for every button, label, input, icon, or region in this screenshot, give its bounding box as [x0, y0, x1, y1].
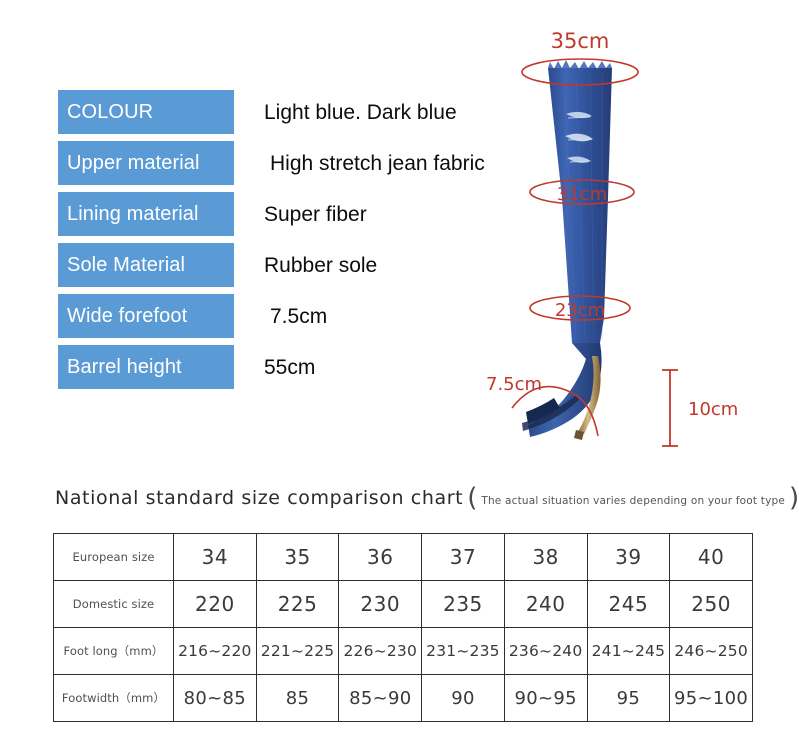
spec-label-lining-material: Lining material: [58, 192, 234, 236]
size-chart-heading: National standard size comparison chart …: [55, 487, 799, 509]
size-chart-note: The actual situation varies depending on…: [481, 495, 785, 507]
spec-label-barrel-height: Barrel height: [58, 345, 234, 389]
cell-foot-width-2: 85~90: [339, 675, 422, 722]
cell-european-size-0: 34: [174, 534, 257, 581]
table-row-european-size: European size 34 35 36 37 38 39 40: [54, 534, 753, 581]
paren-close: ): [789, 491, 799, 507]
cell-foot-long-1: 221~225: [256, 628, 339, 675]
cell-foot-width-6: 95~100: [670, 675, 753, 722]
cell-domestic-size-6: 250: [670, 581, 753, 628]
boot-product-illustration: 35cm 31cm 23cm 7.5cm 10cm: [480, 18, 799, 478]
spec-label-colour: COLOUR: [58, 90, 234, 134]
spec-label-sole-material: Sole Material: [58, 243, 234, 287]
cell-domestic-size-3: 235: [422, 581, 505, 628]
size-chart-title: National standard size comparison chart: [55, 487, 463, 509]
cell-foot-long-5: 241~245: [587, 628, 670, 675]
spec-label-upper-material: Upper material: [58, 141, 234, 185]
cell-foot-width-1: 85: [256, 675, 339, 722]
cell-domestic-size-0: 220: [174, 581, 257, 628]
specification-list: COLOUR Light blue. Dark blue Upper mater…: [58, 90, 528, 396]
cell-foot-long-0: 216~220: [174, 628, 257, 675]
size-comparison-table: European size 34 35 36 37 38 39 40 Domes…: [53, 533, 753, 722]
label-7-5cm: 7.5cm: [486, 374, 542, 395]
spec-row-sole-material: Sole Material Rubber sole: [58, 243, 528, 287]
cell-european-size-1: 35: [256, 534, 339, 581]
cell-european-size-6: 40: [670, 534, 753, 581]
cell-domestic-size-2: 230: [339, 581, 422, 628]
spec-row-upper-material: Upper material High stretch jean fabric: [58, 141, 528, 185]
row-label-domestic-size: Domestic size: [54, 581, 174, 628]
cell-foot-width-5: 95: [587, 675, 670, 722]
cell-european-size-4: 38: [504, 534, 587, 581]
spec-label-wide-forefoot: Wide forefoot: [58, 294, 234, 338]
spec-row-barrel-height: Barrel height 55cm: [58, 345, 528, 389]
row-label-foot-width: Footwidth（mm）: [54, 675, 174, 722]
spec-row-lining-material: Lining material Super fiber: [58, 192, 528, 236]
cell-european-size-3: 37: [422, 534, 505, 581]
label-23cm: 23cm: [555, 300, 605, 321]
row-label-european-size: European size: [54, 534, 174, 581]
table-row-foot-long: Foot long（mm） 216~220 221~225 226~230 23…: [54, 628, 753, 675]
cell-domestic-size-1: 225: [256, 581, 339, 628]
cell-foot-long-3: 231~235: [422, 628, 505, 675]
table-row-foot-width: Footwidth（mm） 80~85 85 85~90 90 90~95 95…: [54, 675, 753, 722]
paren-open: (: [467, 491, 477, 507]
cell-foot-width-0: 80~85: [174, 675, 257, 722]
spec-row-wide-forefoot: Wide forefoot 7.5cm: [58, 294, 528, 338]
cell-domestic-size-4: 240: [504, 581, 587, 628]
label-35cm: 35cm: [551, 29, 610, 53]
row-label-foot-long: Foot long（mm）: [54, 628, 174, 675]
table-row-domestic-size: Domestic size 220 225 230 235 240 245 25…: [54, 581, 753, 628]
label-10cm: 10cm: [688, 399, 738, 420]
cell-foot-long-2: 226~230: [339, 628, 422, 675]
caliper-10cm: [662, 370, 678, 446]
cell-foot-long-4: 236~240: [504, 628, 587, 675]
cell-foot-width-4: 90~95: [504, 675, 587, 722]
cell-foot-width-3: 90: [422, 675, 505, 722]
cell-foot-long-6: 246~250: [670, 628, 753, 675]
cell-european-size-5: 39: [587, 534, 670, 581]
cell-european-size-2: 36: [339, 534, 422, 581]
cell-domestic-size-5: 245: [587, 581, 670, 628]
spec-row-colour: COLOUR Light blue. Dark blue: [58, 90, 528, 134]
label-31cm: 31cm: [557, 184, 607, 205]
